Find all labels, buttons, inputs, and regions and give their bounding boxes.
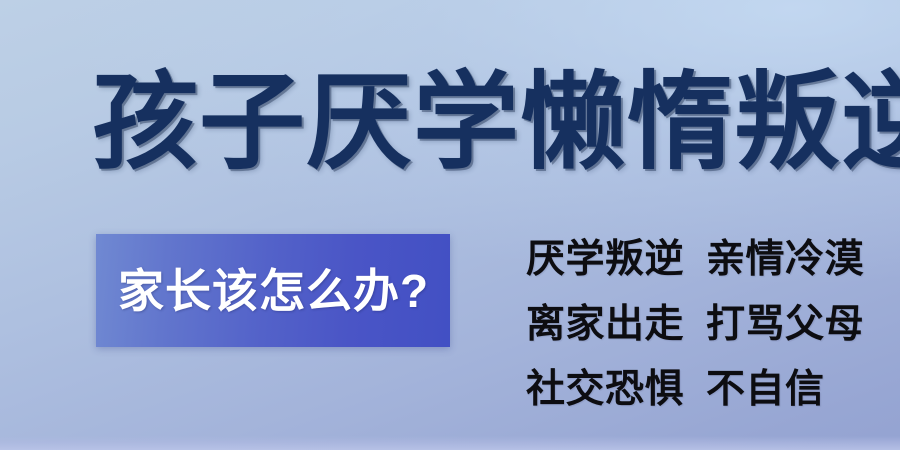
symptom-row: 离家出走 打骂父母 (526, 305, 870, 370)
headline-word-3: 叛逆 (734, 70, 900, 176)
symptom-list: 厌学叛逆 亲情冷漠 离家出走 打骂父母 社交恐惧 不自信 (526, 240, 870, 435)
headline-word-1: 孩子厌学 (92, 70, 520, 176)
symptom-row: 社交恐惧 不自信 (526, 370, 870, 435)
symptom-right: 打骂父母 (706, 305, 864, 344)
poster-canvas: 孩子厌学 懒惰 叛逆 家长该怎么办? 厌学叛逆 亲情冷漠 离家出走 打骂父母 社… (0, 0, 900, 450)
background-bottom-band (0, 436, 900, 450)
headline-word-2: 懒惰 (520, 70, 734, 176)
symptom-right: 亲情冷漠 (706, 240, 864, 279)
symptom-row: 厌学叛逆 亲情冷漠 (526, 240, 870, 305)
cta-badge-label: 家长该怎么办? (96, 268, 429, 314)
symptom-right: 不自信 (706, 370, 825, 409)
headline: 孩子厌学 懒惰 叛逆 (92, 57, 852, 189)
symptom-left: 社交恐惧 (526, 370, 684, 409)
symptom-left: 厌学叛逆 (526, 240, 684, 279)
symptom-left: 离家出走 (526, 305, 684, 344)
cta-badge[interactable]: 家长该怎么办? (96, 234, 450, 347)
